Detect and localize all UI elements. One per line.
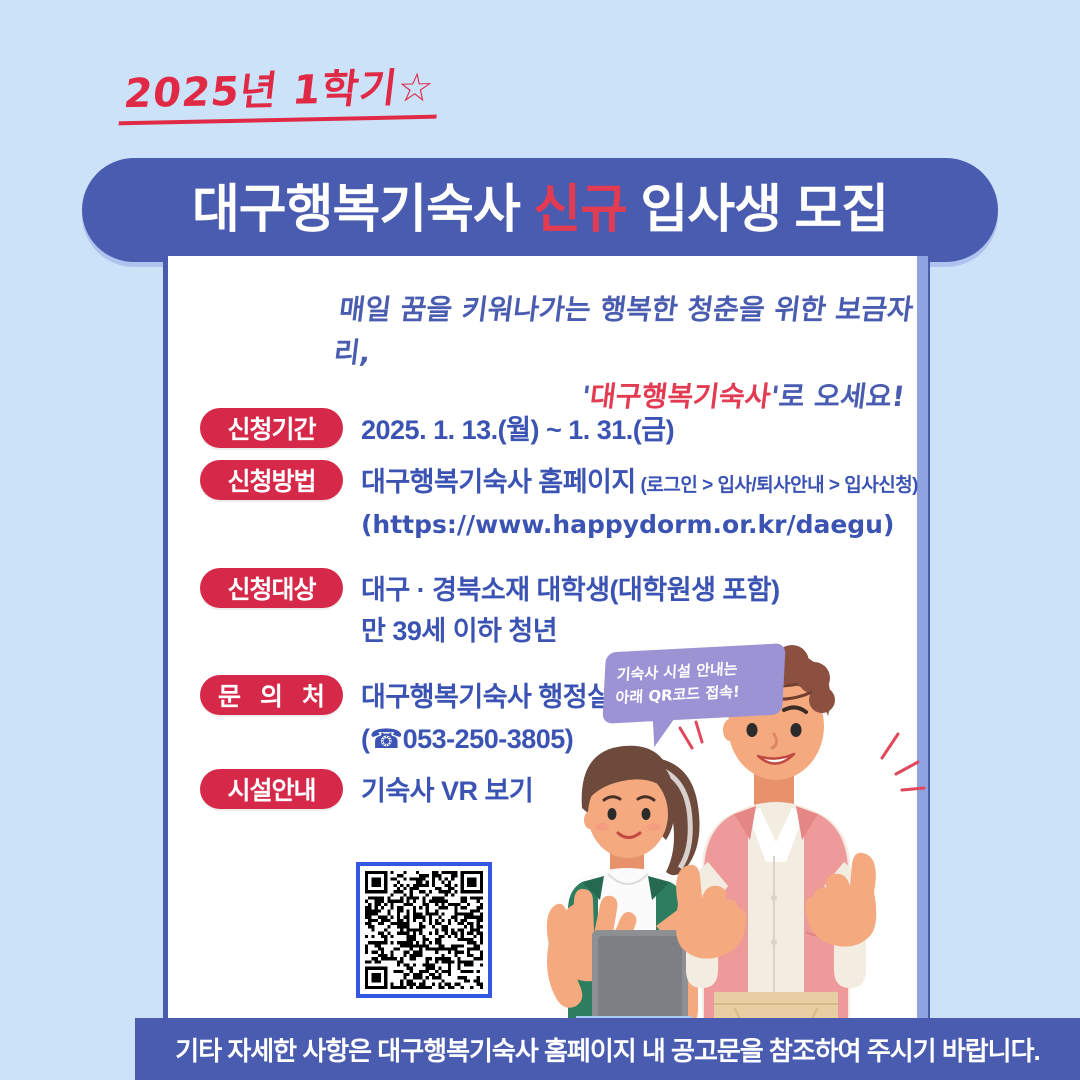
speech-bubble: 기숙사 시설 안내는 아래 QR코드 접속! (602, 643, 785, 724)
info-row-value: 대구행복기숙사 홈페이지 (로그인 > 입사/퇴사안내 > 입사신청)(http… (361, 460, 918, 546)
info-row-line: (로그인 > 입사/퇴사안내 > 입사신청) (636, 475, 918, 496)
title-after: 입사생 모집 (627, 181, 888, 239)
footer-note: 기타 자세한 사항은 대구행복기숙사 홈페이지 내 공고문을 참조하여 주시기 … (175, 1031, 1039, 1068)
info-row-line: (☎053-250-3805) (361, 724, 573, 754)
title-banner: 대구행복기숙사 신규 입사생 모집 (82, 158, 998, 262)
info-row: 문 의 처대구행복기숙사 행정실(☎053-250-3805) (200, 675, 920, 761)
eyebrow-semester-label: 2025년 1학기☆ (118, 67, 442, 126)
info-value-line: 기숙사 VR 보기 (361, 771, 533, 813)
info-row-line: 2025. 1. 13.(월) ~ 1. 31.(금) (361, 415, 674, 445)
qr-code[interactable] (356, 862, 492, 998)
info-value-line: (https://www.happydorm.or.kr/daegu) (361, 504, 918, 546)
poster-root: 2025년 1학기☆ 대구행복기숙사 신규 입사생 모집 매일 꿈을 키워나가는… (0, 0, 1080, 1080)
title-highlight: 신규 (533, 181, 627, 239)
info-value-line: 대구행복기숙사 홈페이지 (로그인 > 입사/퇴사안내 > 입사신청) (361, 462, 918, 504)
subtitle-handwriting: 매일 꿈을 키워나가는 행복한 청춘을 위한 보금자리, '대구행복기숙사'로 … (322, 288, 918, 418)
info-row-value: 대구 · 경북소재 대학생(대학원생 포함)만 39세 이하 청년 (361, 568, 780, 654)
info-row-badge: 신청대상 (200, 568, 343, 608)
title-before: 대구행복기숙사 (192, 181, 533, 239)
info-row: 시설안내기숙사 VR 보기 (200, 769, 920, 813)
info-value-line: 대구행복기숙사 행정실 (361, 677, 611, 719)
info-row-line: 기숙사 VR 보기 (361, 776, 533, 806)
info-row-line: (https://www.happydorm.or.kr/daegu) (361, 510, 894, 539)
info-row-value: 2025. 1. 13.(월) ~ 1. 31.(금) (361, 408, 674, 452)
info-row-badge: 신청방법 (200, 460, 343, 500)
footer-bar: 기타 자세한 사항은 대구행복기숙사 홈페이지 내 공고문을 참조하여 주시기 … (135, 1018, 1080, 1080)
subtitle-line-1: 매일 꿈을 키워나가는 행복한 청춘을 위한 보금자리, (327, 288, 918, 375)
info-value-line: 대구 · 경북소재 대학생(대학원생 포함) (361, 570, 780, 612)
info-row: 신청대상대구 · 경북소재 대학생(대학원생 포함)만 39세 이하 청년 (200, 568, 920, 654)
page-title: 대구행복기숙사 신규 입사생 모집 (192, 184, 888, 236)
info-row-value: 기숙사 VR 보기 (361, 769, 533, 813)
qr-code-canvas (365, 871, 483, 989)
info-row-line: 대구 · 경북소재 대학생(대학원생 포함) (361, 575, 780, 605)
info-value-line: 2025. 1. 13.(월) ~ 1. 31.(금) (361, 410, 674, 452)
info-row-line: 대구행복기숙사 홈페이지 (361, 467, 636, 497)
info-row-badge: 신청기간 (200, 408, 343, 448)
info-row-value: 대구행복기숙사 행정실(☎053-250-3805) (361, 675, 611, 761)
info-value-line: (☎053-250-3805) (361, 719, 611, 761)
info-row-badge: 시설안내 (200, 769, 343, 809)
info-list: 신청기간2025. 1. 13.(월) ~ 1. 31.(금)신청방법대구행복기… (200, 408, 920, 821)
info-row: 신청기간2025. 1. 13.(월) ~ 1. 31.(금) (200, 408, 920, 452)
info-row-badge: 문 의 처 (200, 675, 343, 715)
info-row-line: 만 39세 이하 청년 (361, 616, 557, 646)
info-row-line: 대구행복기숙사 행정실 (361, 682, 611, 712)
info-row: 신청방법대구행복기숙사 홈페이지 (로그인 > 입사/퇴사안내 > 입사신청)(… (200, 460, 920, 546)
